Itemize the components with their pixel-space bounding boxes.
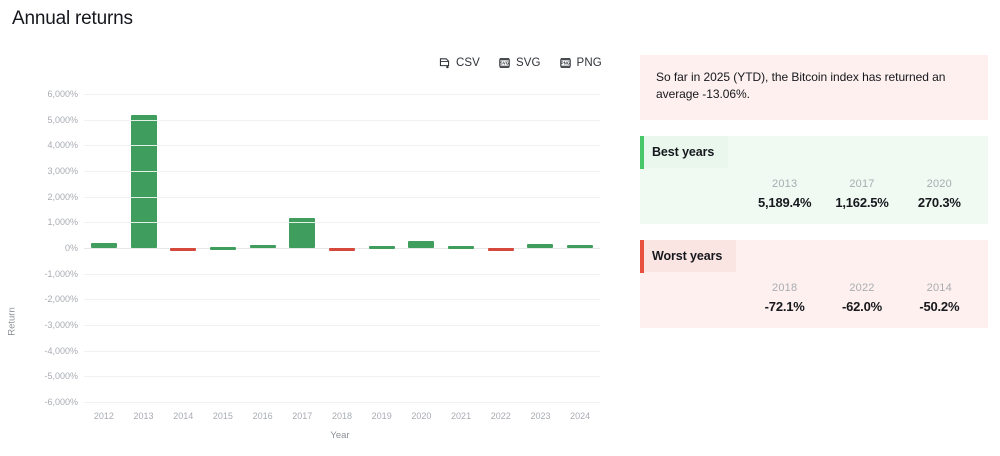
best-year-value: 270.3% xyxy=(901,195,978,210)
chart-bar[interactable] xyxy=(527,244,553,248)
y-axis-tick-label: 0% xyxy=(6,243,78,253)
x-axis-tick-label: 2014 xyxy=(173,411,193,421)
best-years-heading: Best years xyxy=(640,136,728,168)
bar-gridline-overlay xyxy=(131,120,157,121)
chart-bar[interactable] xyxy=(567,245,593,248)
worst-years-spacer xyxy=(650,282,746,314)
best-year-entry: 2020 270.3% xyxy=(901,178,978,210)
page-title: Annual returns xyxy=(12,8,133,30)
bar-gridline-overlay xyxy=(131,222,157,223)
worst-year-entry: 2022 -62.0% xyxy=(823,282,900,314)
chart-plot-area xyxy=(84,78,600,418)
chart-bar[interactable] xyxy=(250,245,276,248)
best-years-grid: 2013 5,189.4% 2017 1,162.5% 2020 270.3% xyxy=(640,168,988,210)
y-axis-tick-label: -4,000% xyxy=(6,346,78,356)
chart-bar[interactable] xyxy=(329,248,355,251)
download-csv-button[interactable]: CSV xyxy=(438,57,480,70)
bar-gridline-overlay xyxy=(131,145,157,146)
y-axis-tick-label: -1,000% xyxy=(6,269,78,279)
y-axis-tick-label: -3,000% xyxy=(6,320,78,330)
download-png-label: PNG xyxy=(577,58,602,70)
best-year-label: 2017 xyxy=(823,178,900,190)
best-years-card: Best years 2013 5,189.4% 2017 1,162.5% 2… xyxy=(640,136,988,224)
x-axis-tick-label: 2017 xyxy=(292,411,312,421)
chart-bar[interactable] xyxy=(488,248,514,251)
y-axis-tick-label: -6,000% xyxy=(6,397,78,407)
download-svg-label: SVG xyxy=(516,58,541,70)
ytd-note-card: So far in 2025 (YTD), the Bitcoin index … xyxy=(640,55,988,120)
best-year-label: 2020 xyxy=(901,178,978,190)
y-axis-tick-label: -5,000% xyxy=(6,371,78,381)
y-axis-tick-label: -2,000% xyxy=(6,294,78,304)
worst-years-card: Worst years 2018 -72.1% 2022 -62.0% 2014… xyxy=(640,240,988,328)
x-axis-tick-label: 2015 xyxy=(213,411,233,421)
best-year-label: 2013 xyxy=(746,178,823,190)
annual-returns-page: Annual returns CSV SVG SVG xyxy=(0,0,1000,456)
summary-panel: So far in 2025 (YTD), the Bitcoin index … xyxy=(640,55,988,328)
svg-download-icon: SVG xyxy=(498,57,511,70)
worst-years-grid: 2018 -72.1% 2022 -62.0% 2014 -50.2% xyxy=(640,272,988,314)
y-axis-tick-label: 2,000% xyxy=(6,192,78,202)
chart-bar[interactable] xyxy=(210,247,236,250)
chart-bar[interactable] xyxy=(170,248,196,251)
worst-year-entry: 2018 -72.1% xyxy=(746,282,823,314)
download-svg-button[interactable]: SVG SVG xyxy=(498,57,541,70)
x-axis-tick-label: 2012 xyxy=(94,411,114,421)
chart-bar[interactable] xyxy=(91,243,117,248)
worst-year-value: -50.2% xyxy=(901,299,978,314)
annual-returns-chart: Return Year 6,000%5,000%4,000%3,000%2,00… xyxy=(0,78,620,448)
y-axis-tick-label: 5,000% xyxy=(6,115,78,125)
y-axis-tick-label: 1,000% xyxy=(6,217,78,227)
csv-download-icon xyxy=(438,57,451,70)
png-download-icon: PNG xyxy=(559,57,572,70)
bar-gridline-overlay xyxy=(289,222,315,223)
bar-gridline-overlay xyxy=(131,171,157,172)
worst-years-heading: Worst years xyxy=(640,240,736,272)
worst-year-label: 2022 xyxy=(823,282,900,294)
svg-text:SVG: SVG xyxy=(500,61,510,66)
y-axis-tick-label: 4,000% xyxy=(6,140,78,150)
best-years-spacer xyxy=(650,178,746,210)
worst-year-label: 2018 xyxy=(746,282,823,294)
worst-year-value: -62.0% xyxy=(823,299,900,314)
download-png-button[interactable]: PNG PNG xyxy=(559,57,602,70)
export-toolbar: CSV SVG SVG PNG PNG xyxy=(438,57,602,70)
x-axis-tick-label: 2022 xyxy=(491,411,511,421)
best-year-value: 5,189.4% xyxy=(746,195,823,210)
x-axis-title: Year xyxy=(80,430,600,441)
best-year-entry: 2013 5,189.4% xyxy=(746,178,823,210)
svg-text:PNG: PNG xyxy=(560,61,570,66)
chart-bar[interactable] xyxy=(448,246,474,249)
best-year-value: 1,162.5% xyxy=(823,195,900,210)
ytd-note-text: So far in 2025 (YTD), the Bitcoin index … xyxy=(656,70,945,101)
y-axis-ticks: 6,000%5,000%4,000%3,000%2,000%1,000%0%-1… xyxy=(0,78,78,418)
x-axis-tick-label: 2020 xyxy=(411,411,431,421)
download-csv-label: CSV xyxy=(456,58,480,70)
worst-year-label: 2014 xyxy=(901,282,978,294)
x-axis-tick-label: 2018 xyxy=(332,411,352,421)
x-axis-tick-label: 2013 xyxy=(134,411,154,421)
y-axis-tick-label: 3,000% xyxy=(6,166,78,176)
bar-gridline-overlay xyxy=(131,197,157,198)
x-axis-tick-label: 2016 xyxy=(253,411,273,421)
x-axis-tick-label: 2021 xyxy=(451,411,471,421)
x-axis-tick-label: 2023 xyxy=(530,411,550,421)
y-axis-tick-label: 6,000% xyxy=(6,89,78,99)
chart-bar[interactable] xyxy=(408,241,434,248)
best-years-accent-bar xyxy=(640,136,644,169)
worst-years-accent-bar xyxy=(640,240,644,273)
chart-bar[interactable] xyxy=(369,246,395,249)
chart-bar[interactable] xyxy=(131,115,157,248)
best-year-entry: 2017 1,162.5% xyxy=(823,178,900,210)
x-axis-tick-label: 2019 xyxy=(372,411,392,421)
worst-year-entry: 2014 -50.2% xyxy=(901,282,978,314)
worst-year-value: -72.1% xyxy=(746,299,823,314)
x-axis-tick-label: 2024 xyxy=(570,411,590,421)
